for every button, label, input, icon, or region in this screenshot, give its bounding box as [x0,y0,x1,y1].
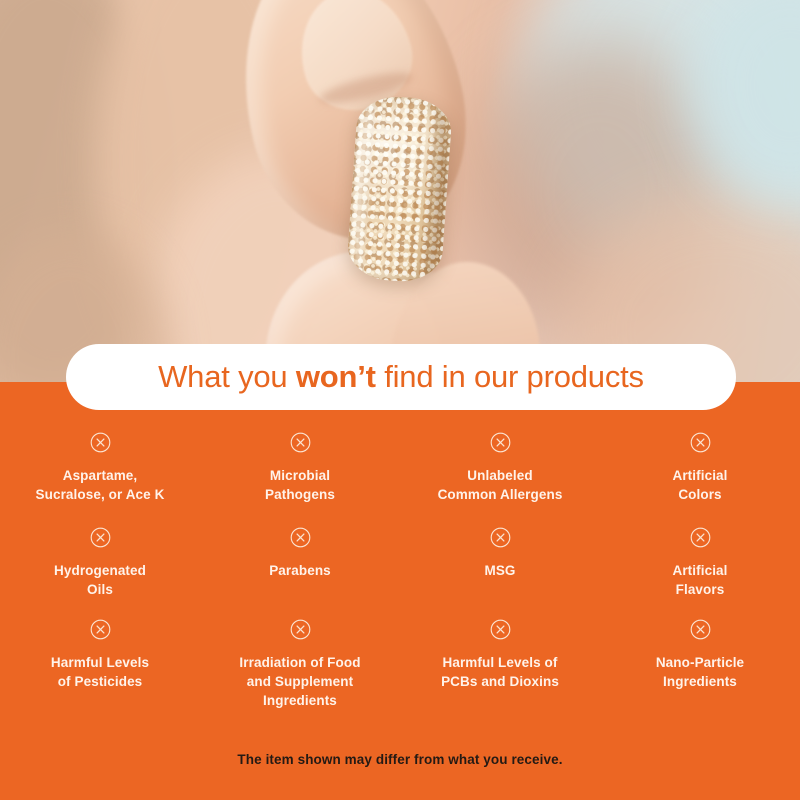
circle-x-icon [290,527,311,548]
exclusion-label: Parabens [269,561,331,580]
exclusion-label: Nano-Particle Ingredients [656,653,744,691]
circle-x-icon [690,619,711,640]
disclaimer-text: The item shown may differ from what you … [0,752,800,767]
exclusions-grid: Aspartame, Sucralose, or Ace K Microbial… [0,432,800,729]
headline-emphasis: won’t [296,359,376,394]
exclusion-item: Irradiation of Food and Supplement Ingre… [200,619,400,729]
exclusion-item: Artificial Flavors [600,527,800,619]
circle-x-icon [290,432,311,453]
exclusion-item: Aspartame, Sucralose, or Ace K [0,432,200,527]
circle-x-icon [290,619,311,640]
page-title: What you won’t find in our products [158,359,644,395]
exclusion-item: Nano-Particle Ingredients [600,619,800,729]
circle-x-icon [690,527,711,548]
promotional-graphic: What you won’t find in our products Aspa… [0,0,800,800]
exclusion-item: Harmful Levels of Pesticides [0,619,200,729]
circle-x-icon [90,432,111,453]
circle-x-icon [490,619,511,640]
exclusion-item: MSG [400,527,600,619]
circle-x-icon [490,527,511,548]
exclusion-label: Harmful Levels of PCBs and Dioxins [441,653,559,691]
exclusion-item: Unlabeled Common Allergens [400,432,600,527]
exclusion-item: Parabens [200,527,400,619]
circle-x-icon [690,432,711,453]
exclusion-item: Microbial Pathogens [200,432,400,527]
circle-x-icon [90,619,111,640]
exclusion-label: Artificial Colors [672,466,727,504]
exclusion-label: Aspartame, Sucralose, or Ace K [36,466,165,504]
exclusion-label: Harmful Levels of Pesticides [51,653,149,691]
product-photo [0,0,800,390]
exclusion-label: Artificial Flavors [672,561,727,599]
exclusion-item: Artificial Colors [600,432,800,527]
exclusion-label: MSG [484,561,515,580]
exclusion-label: Unlabeled Common Allergens [438,466,563,504]
exclusion-label: Hydrogenated Oils [54,561,146,599]
exclusion-item: Harmful Levels of PCBs and Dioxins [400,619,600,729]
headline-pill: What you won’t find in our products [66,344,736,410]
exclusion-item: Hydrogenated Oils [0,527,200,619]
circle-x-icon [490,432,511,453]
headline-after: find in our products [376,359,644,394]
headline-before: What you [158,359,296,394]
exclusion-label: Microbial Pathogens [265,466,335,504]
exclusion-label: Irradiation of Food and Supplement Ingre… [239,653,360,710]
circle-x-icon [90,527,111,548]
supplement-tablet [346,94,454,284]
